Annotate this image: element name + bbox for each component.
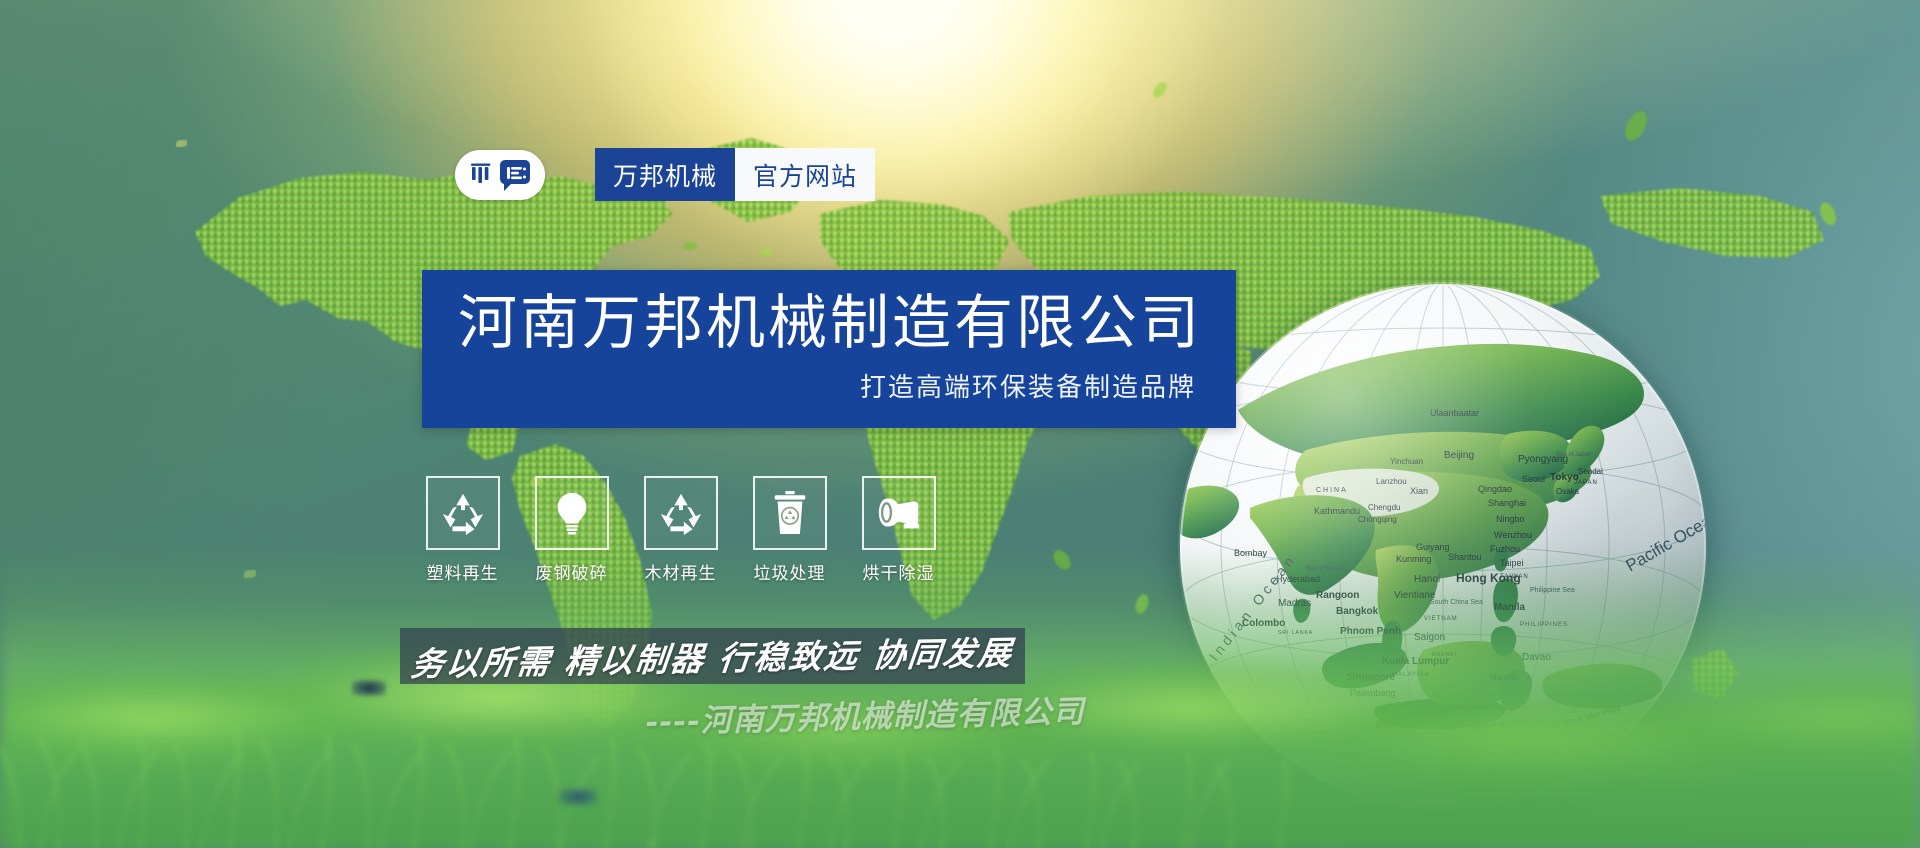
leaf-fleck (176, 140, 187, 147)
svg-text:Lanzhou: Lanzhou (1376, 477, 1407, 486)
service-icon-box (644, 476, 718, 550)
page-title: 河南万邦机械制造有限公司 (458, 292, 1204, 355)
service-icon-box (426, 476, 500, 550)
service-icon-box (862, 476, 936, 550)
service-icon-box (753, 476, 827, 550)
header-tabs: 万邦机械 官方网站 (595, 148, 875, 201)
svg-text:Kathmandu: Kathmandu (1314, 506, 1360, 516)
svg-text:Seoul: Seoul (1522, 474, 1545, 484)
slogan-text: 务以所需 精以制器 行稳致远 协同发展 (409, 626, 1016, 686)
svg-text:Xian: Xian (1410, 486, 1428, 496)
service-label: 木材再生 (645, 559, 717, 584)
svg-text:Chengdu: Chengdu (1368, 503, 1400, 512)
svg-text:Chongqing: Chongqing (1358, 515, 1397, 524)
svg-text:Osaka: Osaka (1556, 487, 1580, 496)
company-title-banner: 河南万邦机械制造有限公司 打造高端环保装备制造品牌 (422, 270, 1236, 428)
svg-text:Shanghai: Shanghai (1488, 498, 1526, 508)
blower-dryer-icon (875, 493, 923, 533)
service-item-scrap-steel-crushing[interactable]: 废钢破碎 (530, 476, 613, 584)
service-label: 烘干除湿 (863, 559, 935, 584)
svg-text:Sendai: Sendai (1578, 467, 1603, 476)
svg-text:Qingdao: Qingdao (1478, 484, 1512, 494)
service-icon-row: 塑料再生 废钢破碎 (421, 476, 940, 584)
svg-text:Sea of Japan: Sea of Japan (1556, 452, 1591, 458)
lightbulb-icon (549, 490, 595, 536)
tab-wanbang-jixie[interactable]: 万邦机械 (595, 148, 735, 201)
svg-text:Beijing: Beijing (1444, 450, 1474, 461)
grass-speck (558, 788, 598, 806)
svg-text:Wenzhou: Wenzhou (1494, 530, 1532, 540)
w-glyph-icon (469, 162, 495, 188)
recycle-icon (440, 490, 486, 536)
b-speech-bubble-icon (498, 158, 532, 192)
service-icon-box (535, 476, 609, 550)
trash-bin-icon (769, 490, 811, 536)
slogan-band: 务以所需 精以制器 行稳致远 协同发展 (400, 628, 1025, 684)
svg-text:JAPAN: JAPAN (1574, 480, 1598, 486)
service-label: 废钢破碎 (536, 559, 608, 584)
hero-banner: Ulaanbaatar Beijing Yinchuan Pyongyang S… (0, 0, 1920, 848)
service-item-wood-recycling[interactable]: 木材再生 (639, 476, 722, 584)
service-label: 塑料再生 (427, 559, 499, 584)
tab-official-site[interactable]: 官方网站 (735, 148, 875, 201)
svg-text:Ningbo: Ningbo (1496, 514, 1525, 524)
grass-speck (352, 680, 386, 696)
wanbang-logo[interactable] (455, 150, 545, 200)
svg-text:CHINA: CHINA (1316, 487, 1348, 494)
page-subtitle: 打造高端环保装备制造品牌 (458, 367, 1204, 404)
svg-text:Yinchuan: Yinchuan (1390, 457, 1423, 466)
site-header: 万邦机械 官方网站 (455, 148, 875, 201)
service-item-drying-dehumidification[interactable]: 烘干除湿 (857, 476, 940, 584)
service-label: 垃圾处理 (754, 559, 826, 584)
recycle-icon (658, 490, 704, 536)
service-item-waste-treatment[interactable]: 垃圾处理 (748, 476, 831, 584)
svg-text:Ulaanbaatar: Ulaanbaatar (1430, 408, 1479, 418)
service-item-plastic-recycling[interactable]: 塑料再生 (421, 476, 504, 584)
